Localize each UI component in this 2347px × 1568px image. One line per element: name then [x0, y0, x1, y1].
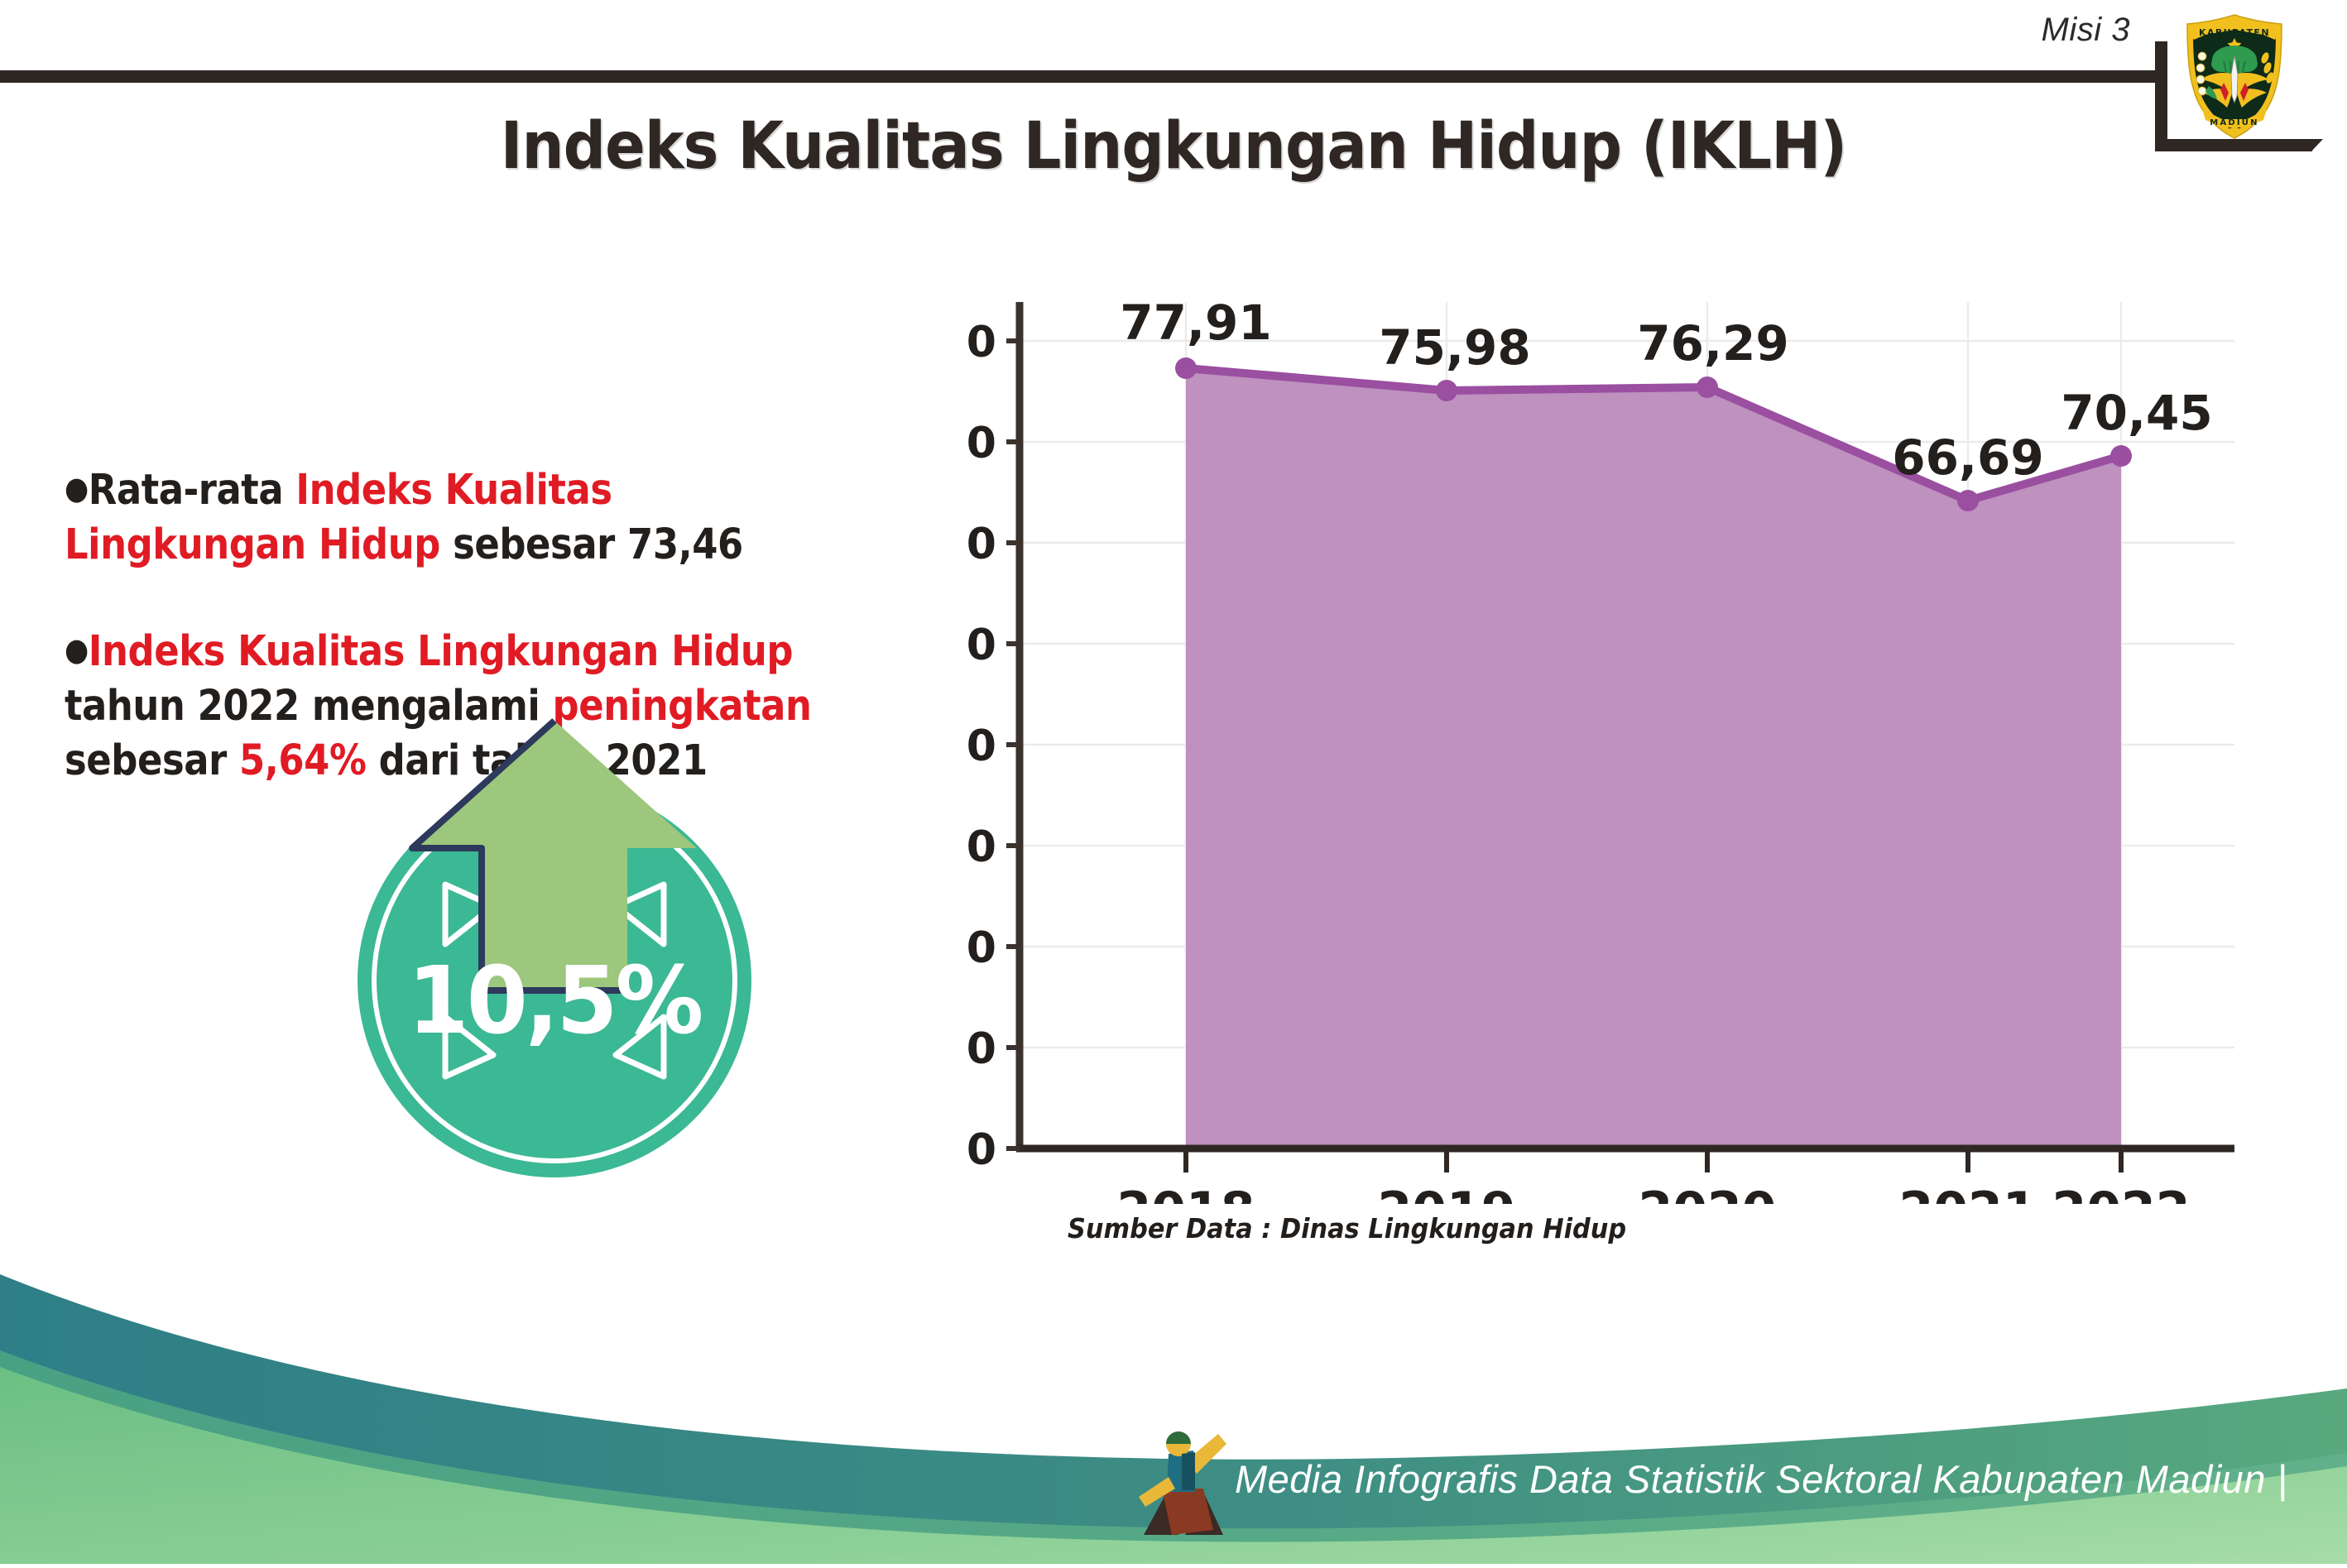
point-label: 70,45	[2061, 385, 2212, 441]
y-tick-label: 10	[968, 1024, 996, 1074]
dancer-figure-icon	[1135, 1426, 1235, 1542]
x-tick-label: 2021	[1899, 1182, 2037, 1204]
y-tick-label: 60	[968, 520, 996, 569]
x-tick-label: 2019	[1378, 1182, 1516, 1204]
footer-caption: Media Infografis Data Statistik Sektoral…	[1235, 1456, 2287, 1502]
bullet-dot-icon: ●	[65, 631, 89, 668]
y-tick-label: 70	[968, 419, 996, 468]
point-label: 66,69	[1892, 429, 2043, 486]
y-tick-label: 20	[968, 923, 996, 973]
header-corner-shadow	[2311, 139, 2323, 151]
y-tick-label: 40	[968, 722, 996, 771]
misi-label: Misi 3	[2042, 12, 2130, 49]
y-tick-label: 30	[968, 822, 996, 872]
y-tick-label: 0	[968, 1125, 996, 1175]
x-tick-label: 2022	[2052, 1182, 2191, 1204]
y-tick-label: 50	[968, 621, 996, 670]
header-rule	[0, 70, 2158, 83]
point-label: 77,91	[1120, 295, 1271, 351]
bullet-2-seg-5: 5,64%	[239, 736, 367, 785]
bullet-2-seg-1: Indeks Kualitas Lingkungan Hidup	[89, 627, 793, 676]
page-title: Indeks Kualitas Lingkungan Hidup (IKLH)	[94, 109, 2253, 184]
bullet-1-seg-1: Rata-rata	[89, 466, 296, 515]
bullet-dot-icon: ●	[65, 470, 89, 506]
x-tick-label: 2020	[1639, 1182, 1777, 1204]
bullet-2-seg-4: sebesar	[65, 736, 239, 785]
chart-x-tick-labels: 2018 2019 2020 2021 2022	[1117, 1182, 2191, 1204]
growth-badge-value: 10,5%	[366, 947, 743, 1055]
iklh-area-chart: 80 70 60 50 40 30 20 10 0 2018 2019 2020…	[968, 294, 2276, 1204]
y-tick-label: 80	[968, 318, 996, 367]
bullet-item-1: ●Rata-rata Indeks Kualitas Lingkungan Hi…	[65, 463, 858, 573]
chart-source-note: Sumber Data : Dinas Lingkungan Hidup	[1068, 1212, 1626, 1244]
point-label: 75,98	[1379, 319, 1530, 376]
bullet-1-seg-3: sebesar 73,46	[440, 520, 743, 569]
chart-y-tick-labels: 80 70 60 50 40 30 20 10 0	[968, 318, 996, 1175]
svg-text:KABUPATEN: KABUPATEN	[2199, 27, 2270, 38]
x-tick-label: 2018	[1117, 1182, 1255, 1204]
point-label: 76,29	[1637, 315, 1788, 372]
